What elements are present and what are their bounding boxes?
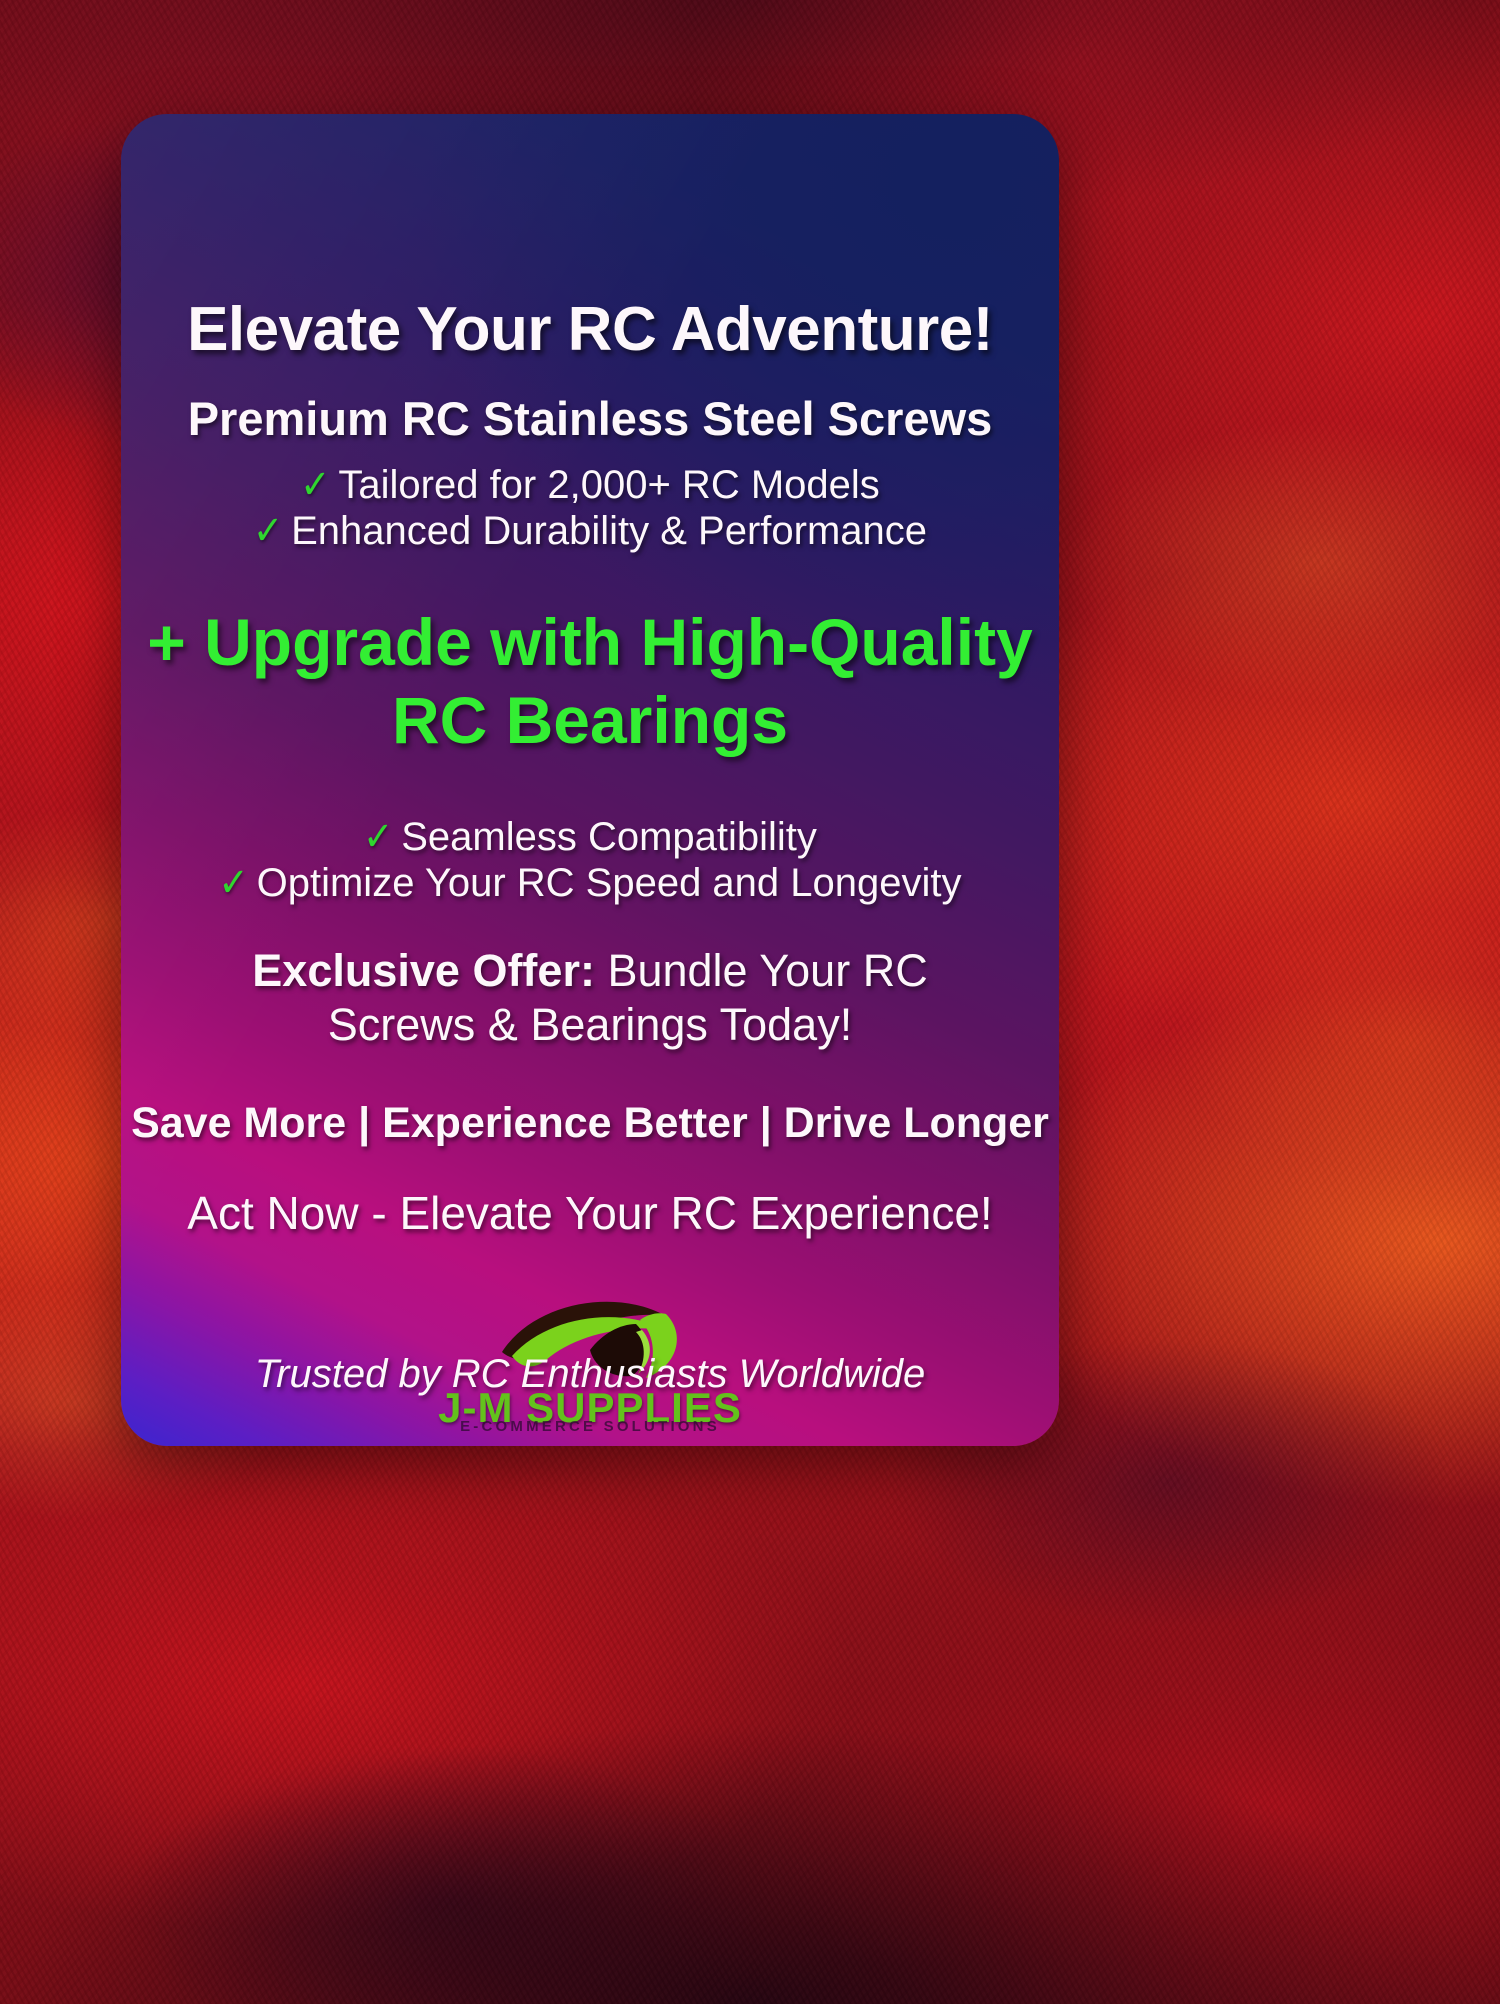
list-item-label: Optimize Your RC Speed and Longevity [257, 861, 962, 905]
offer-line-1-rest: Bundle Your RC [595, 945, 928, 996]
green-heading-line-2: RC Bearings [121, 682, 1059, 760]
list-item: ✓Tailored for 2,000+ RC Models [121, 462, 1059, 508]
offer-label: Exclusive Offer: [252, 945, 595, 996]
list-item-label: Tailored for 2,000+ RC Models [338, 463, 879, 507]
list-item-label: Seamless Compatibility [401, 815, 817, 859]
check-icon: ✓ [253, 509, 283, 553]
plus-symbol: + [147, 605, 186, 679]
value-props: Save More | Experience Better | Drive Lo… [121, 1099, 1059, 1148]
page-title: Elevate Your RC Adventure! [121, 294, 1059, 365]
feature-list-bottom: ✓Seamless Compatibility ✓Optimize Your R… [121, 814, 1059, 907]
list-item-label: Enhanced Durability & Performance [291, 509, 927, 553]
list-item: ✓Optimize Your RC Speed and Longevity [121, 860, 1059, 906]
feature-list-top: ✓Tailored for 2,000+ RC Models ✓Enhanced… [121, 462, 1059, 555]
exclusive-offer: Exclusive Offer: Bundle Your RC Screws &… [121, 944, 1059, 1052]
check-icon: ✓ [363, 815, 393, 859]
green-heading: + Upgrade with High-Quality RC Bearings [121, 604, 1059, 760]
list-item: ✓Enhanced Durability & Performance [121, 508, 1059, 554]
check-icon: ✓ [300, 463, 330, 507]
call-to-action: Act Now - Elevate Your RC Experience! [121, 1186, 1059, 1240]
offer-line-1: Exclusive Offer: Bundle Your RC [121, 944, 1059, 998]
subheadline: Premium RC Stainless Steel Screws [121, 391, 1059, 446]
logo-tagline: E-COMMERCE SOLUTIONS [121, 1418, 1059, 1435]
green-heading-text-1: Upgrade with High-Quality [204, 605, 1033, 679]
offer-line-2: Screws & Bearings Today! [121, 998, 1059, 1052]
check-icon: ✓ [218, 861, 248, 905]
promo-card: Elevate Your RC Adventure! Premium RC St… [121, 114, 1059, 1446]
list-item: ✓Seamless Compatibility [121, 814, 1059, 860]
trust-footer: Trusted by RC Enthusiasts Worldwide [121, 1352, 1059, 1397]
green-heading-line-1: + Upgrade with High-Quality [121, 604, 1059, 682]
